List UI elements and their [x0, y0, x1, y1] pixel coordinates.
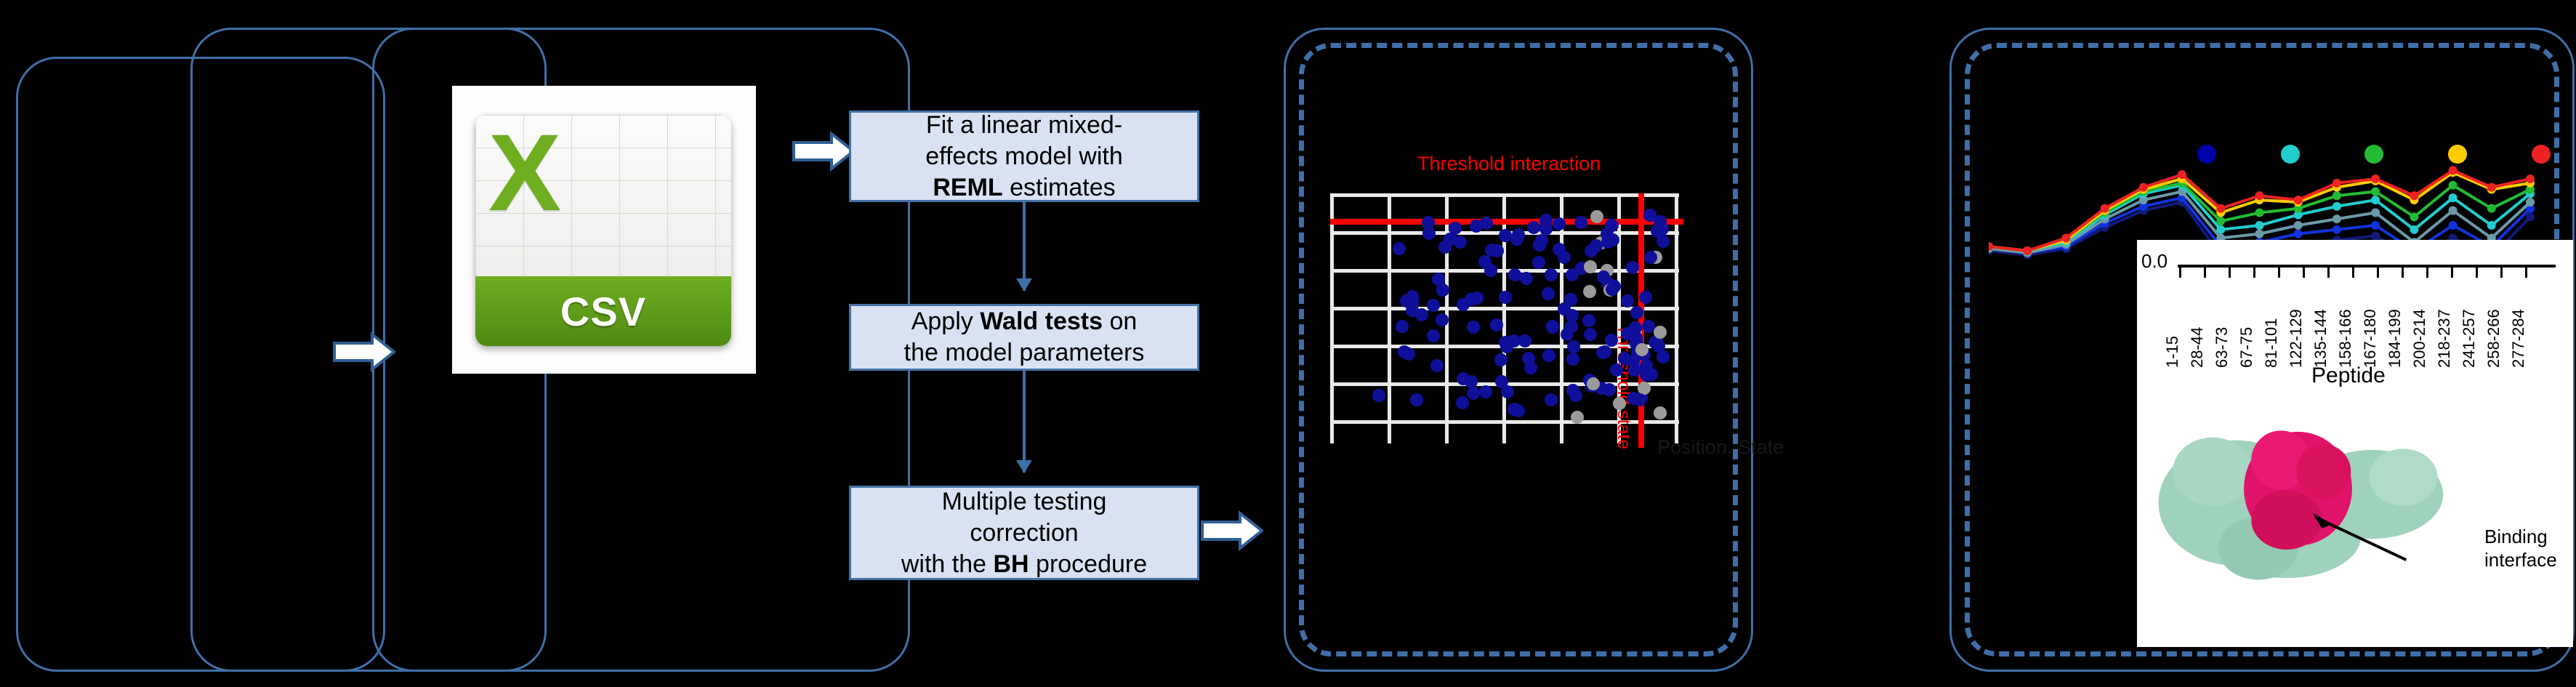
scatter-point: [1633, 393, 1646, 406]
marker-red-icon: [2532, 145, 2551, 164]
x-tick-label: 258-266: [2484, 309, 2503, 368]
x-tick-mark-icon: [2278, 268, 2280, 278]
scatter-point: [1545, 268, 1558, 281]
arrow-csv-to-method-icon: [792, 131, 855, 172]
scatter-point: [1467, 321, 1480, 334]
connector-step1-step2-icon: [1023, 202, 1026, 291]
y-tick-partial-label: 0.0: [2141, 250, 2168, 273]
scatter-point: [1436, 313, 1449, 326]
x-tick-mark-icon: [2204, 268, 2206, 278]
data-point: [2371, 187, 2380, 196]
scatter-point: [1645, 368, 1658, 381]
csv-file-icon: X CSV: [452, 86, 756, 374]
scatter-point: [1522, 352, 1535, 365]
data-point: [2216, 217, 2225, 225]
data-point: [2487, 204, 2496, 213]
data-point: [2101, 204, 2109, 213]
protein-structure-image: [2144, 385, 2486, 603]
scatter-point: [1596, 346, 1609, 359]
scatter-point: [1372, 389, 1385, 402]
data-point: [2449, 181, 2458, 190]
x-tick-mark-icon: [2229, 268, 2231, 278]
data-point: [2487, 221, 2496, 230]
scatter-point: [1410, 393, 1423, 406]
scatter-point: [1402, 347, 1415, 361]
method-step-3: Multiple testingcorrectionwith the BH pr…: [849, 486, 1199, 580]
data-point: [2410, 191, 2418, 200]
x-tick-label: 122-129: [2287, 309, 2306, 368]
scatter-point: [1590, 210, 1603, 223]
faint-axis-text: Position. State: [1657, 436, 1784, 459]
scatter-point: [1427, 329, 1440, 342]
x-axis-title: Peptide: [2311, 363, 2386, 388]
x-tick-label: 218-237: [2435, 309, 2454, 368]
scatter-point: [1590, 239, 1603, 252]
scatter-point: [1630, 306, 1643, 319]
scatter-point: [1470, 292, 1484, 305]
marker-cyan-icon: [2281, 145, 2300, 164]
binding-interface-line2: interface: [2484, 548, 2557, 571]
scatter-point: [1406, 290, 1419, 303]
scatter-plot-area: Threshold state: [1330, 193, 1679, 443]
scatter-point: [1613, 397, 1626, 410]
scatter-point: [1520, 272, 1533, 285]
scatter-point: [1564, 293, 1577, 306]
data-point: [2526, 198, 2535, 206]
scatter-point: [1467, 387, 1480, 400]
x-tick-mark-icon: [2500, 268, 2503, 278]
excel-x-glyph-icon: X: [488, 129, 561, 215]
data-point: [2371, 174, 2380, 183]
scatter-point: [1457, 298, 1470, 311]
scatter-point: [1628, 363, 1641, 377]
x-tick-label: 63-73: [2213, 327, 2231, 368]
scatter-point: [1601, 228, 1614, 241]
data-point: [2449, 166, 2458, 174]
x-tick-label: 241-257: [2460, 309, 2479, 368]
x-tick-label: 67-75: [2237, 327, 2256, 368]
data-point: [2139, 183, 2148, 192]
data-point: [2255, 230, 2264, 238]
x-tick-mark-icon: [2352, 268, 2354, 278]
scatter-point: [1539, 222, 1553, 236]
data-point: [2449, 193, 2458, 202]
method-step-1: Fit a linear mixed-effects model withREM…: [849, 111, 1199, 202]
scatter-point: [1657, 350, 1670, 363]
data-point: [2178, 170, 2186, 179]
scatter-point: [1618, 352, 1631, 365]
marker-green-icon: [2364, 145, 2383, 164]
scatter-point: [1621, 294, 1634, 308]
scatter-point: [1654, 326, 1667, 339]
x-tick-label: 200-214: [2410, 309, 2429, 368]
threshold-interaction-line-icon: [1330, 219, 1683, 225]
data-point: [2449, 221, 2458, 230]
marker-navy-icon: [2197, 145, 2216, 164]
method-step-1-text: Fit a linear mixed-effects model withREM…: [925, 110, 1123, 204]
x-tick-label: 184-199: [2386, 309, 2404, 368]
scatter-point: [1582, 314, 1595, 327]
scatter-point: [1427, 299, 1440, 312]
scatter-point: [1567, 340, 1580, 353]
x-tick-label: 1-15: [2163, 336, 2182, 368]
x-tick-mark-icon: [2303, 268, 2305, 278]
data-point: [2216, 225, 2225, 234]
scatter-point: [1494, 353, 1508, 366]
scatter-point: [1490, 318, 1503, 332]
data-point: [2333, 214, 2341, 223]
scatter-point: [1510, 233, 1524, 246]
scatter-point: [1542, 349, 1555, 362]
scatter-point: [1396, 320, 1409, 333]
scatter-point: [1527, 221, 1540, 234]
x-tick-label: 28-44: [2188, 327, 2207, 368]
data-point: [2294, 230, 2303, 238]
scatter-point: [1606, 283, 1619, 296]
data-point: [2061, 233, 2070, 242]
scatter-point: [1574, 216, 1587, 229]
scatter-point: [1454, 236, 1467, 249]
data-point: [2487, 183, 2496, 192]
data-point: [2449, 206, 2458, 215]
scatter-point: [1449, 222, 1462, 235]
x-axis-line-icon: [2178, 265, 2556, 268]
data-point: [2333, 202, 2341, 211]
scatter-point: [1583, 285, 1596, 298]
scatter-point: [1478, 255, 1492, 268]
scatter-point: [1654, 406, 1667, 419]
scatter-point: [1499, 291, 1512, 304]
scatter-point: [1584, 328, 1597, 341]
scatter-point: [1569, 389, 1582, 402]
scatter-point: [1626, 261, 1639, 274]
scatter-point: [1638, 382, 1651, 395]
scatter-point: [1406, 304, 1419, 317]
scatter-point: [1566, 268, 1579, 281]
data-point: [2023, 246, 2032, 255]
data-point: [2371, 221, 2380, 230]
data-point: [2294, 196, 2303, 204]
x-tick-mark-icon: [2451, 268, 2453, 278]
scatter-point: [1654, 215, 1667, 228]
scatter-point: [1465, 375, 1478, 388]
data-point: [2255, 221, 2264, 230]
data-point: [2410, 212, 2418, 221]
scatter-point: [1479, 385, 1492, 398]
scatter-figure: Threshold interaction Threshold state Po…: [1330, 153, 1710, 443]
x-tick-mark-icon: [2426, 268, 2428, 278]
x-tick-label: 167-180: [2361, 309, 2380, 368]
scatter-point: [1610, 363, 1623, 377]
x-tick-mark-icon: [2525, 268, 2527, 278]
threshold-state-line-icon: [1638, 193, 1644, 448]
scatter-point: [1571, 411, 1584, 424]
scatter-point: [1553, 217, 1566, 230]
scatter-point: [1587, 377, 1600, 390]
scatter-point: [1635, 343, 1649, 356]
scatter-point: [1422, 227, 1436, 240]
x-tick-label: 277-284: [2509, 309, 2528, 368]
method-step-3-text: Multiple testingcorrectionwith the BH pr…: [901, 486, 1147, 580]
scatter-point: [1393, 242, 1406, 255]
csv-label: CSV: [560, 288, 646, 335]
data-point: [2333, 225, 2341, 234]
data-point: [2294, 221, 2303, 230]
scatter-point: [1639, 291, 1652, 304]
x-tick-mark-icon: [2327, 268, 2330, 278]
scatter-point: [1657, 235, 1670, 248]
scatter-point: [1456, 396, 1469, 409]
scatter-point: [1545, 393, 1558, 406]
scatter-point: [1470, 220, 1483, 233]
arrow-input-to-csv-icon: [333, 332, 395, 372]
structure-card: 0.0 1-1528-4463-7367-7581-101122-129135-…: [2137, 240, 2573, 647]
csv-band: CSV: [475, 276, 731, 346]
scatter-point: [1430, 359, 1444, 372]
csv-card: X CSV: [475, 115, 731, 346]
x-tick-label: 81-101: [2262, 318, 2281, 368]
data-point: [2526, 212, 2535, 221]
data-point: [2371, 209, 2380, 217]
scatter-point: [1501, 385, 1514, 398]
data-point: [2371, 196, 2380, 204]
x-tick-mark-icon: [2253, 268, 2255, 278]
binding-interface-annotation: Binding interface: [2484, 525, 2557, 571]
scatter-point: [1542, 287, 1555, 300]
x-tick-mark-icon: [2179, 268, 2181, 278]
data-point: [2333, 179, 2341, 188]
scatter-point: [1518, 334, 1531, 347]
binding-interface-line1: Binding: [2484, 525, 2557, 548]
data-point: [2410, 225, 2418, 234]
scatter-point: [1546, 321, 1559, 334]
scatter-point: [1565, 320, 1578, 333]
method-step-2: Apply Wald tests onthe model parameters: [849, 304, 1199, 371]
scatter-point: [1532, 256, 1545, 269]
data-point: [2255, 191, 2264, 200]
marker-yellow-icon: [2448, 145, 2467, 164]
scatter-point: [1508, 403, 1521, 416]
x-tick-mark-icon: [2377, 268, 2379, 278]
scatter-point: [1566, 353, 1579, 366]
x-tick-mark-icon: [2402, 268, 2404, 278]
scatter-point: [1584, 260, 1597, 273]
connector-step2-step3-icon: [1023, 371, 1026, 473]
arrow-method-to-plots-icon: [1201, 510, 1263, 551]
data-point: [2216, 204, 2225, 213]
method-step-2-text: Apply Wald tests onthe model parameters: [904, 306, 1145, 369]
data-point: [2371, 232, 2380, 241]
scatter-point: [1432, 273, 1445, 286]
data-point: [2333, 191, 2341, 200]
x-tick-label: 158-166: [2336, 309, 2355, 368]
threshold-interaction-label: Threshold interaction: [1417, 153, 1708, 175]
data-point: [2526, 174, 2535, 183]
data-point: [2255, 209, 2264, 217]
x-tick-label: 135-144: [2311, 309, 2330, 368]
x-tick-mark-icon: [2476, 268, 2478, 278]
scatter-point: [1644, 251, 1657, 264]
scatter-point: [1533, 238, 1546, 252]
